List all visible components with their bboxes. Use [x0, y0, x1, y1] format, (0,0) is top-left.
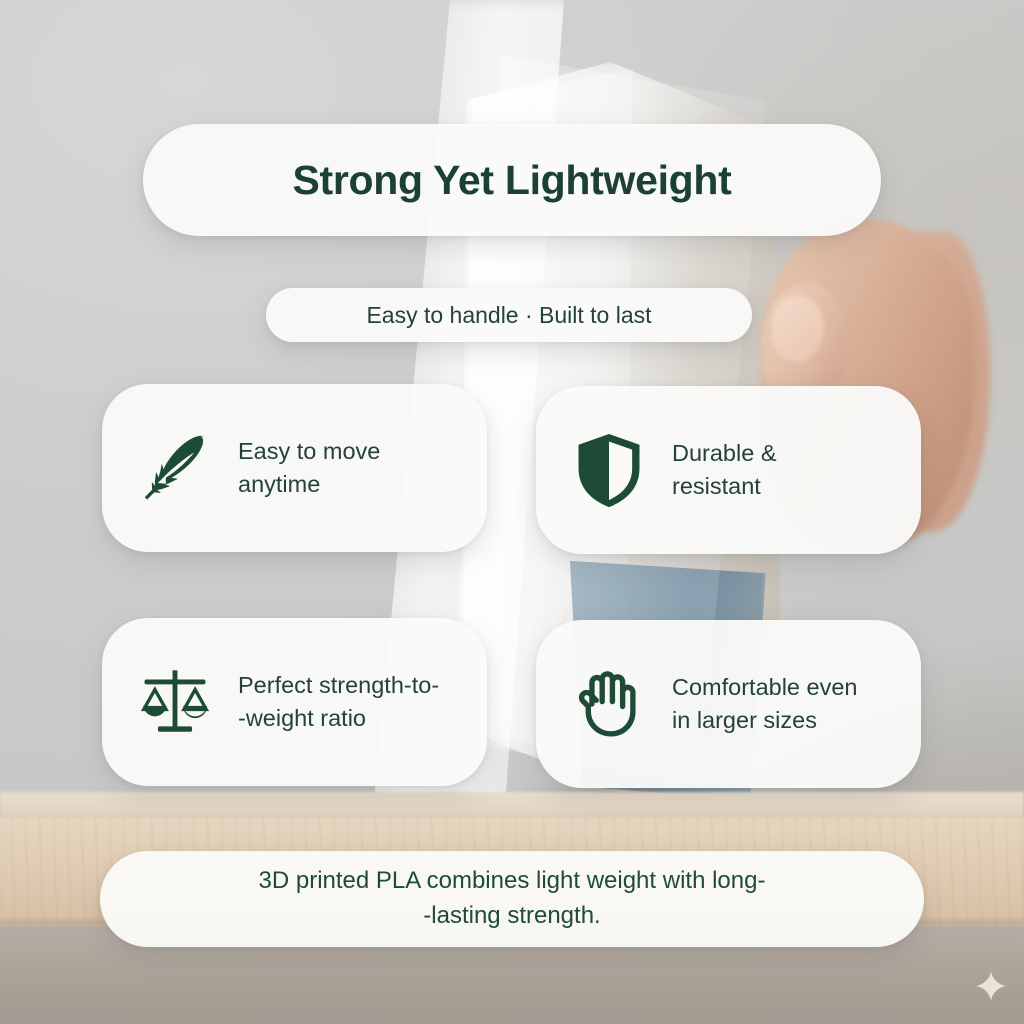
- page-title: Strong Yet Lightweight: [292, 157, 731, 204]
- feather-icon: [136, 427, 214, 509]
- feature-card-strength-to-weight[interactable]: Perfect strength-to- -weight ratio: [102, 618, 487, 786]
- balance-scale-icon: [136, 661, 214, 743]
- feature-card-durable[interactable]: Durable & resistant: [536, 386, 921, 554]
- title-pill: Strong Yet Lightweight: [143, 124, 881, 236]
- feature-card-label: Durable & resistant: [672, 437, 777, 504]
- infographic-canvas: Strong Yet Lightweight Easy to handle · …: [0, 0, 1024, 1024]
- feature-card-label: Perfect strength-to- -weight ratio: [238, 669, 439, 736]
- open-hand-icon: [570, 663, 648, 745]
- footer-text: 3D printed PLA combines light weight wit…: [199, 864, 826, 933]
- footer-pill: 3D printed PLA combines light weight wit…: [100, 851, 924, 947]
- feature-card-label: Easy to move anytime: [238, 435, 380, 502]
- page-subtitle: Easy to handle · Built to last: [366, 302, 651, 329]
- feature-card-easy-to-move[interactable]: Easy to move anytime: [102, 384, 487, 552]
- shield-icon: [570, 429, 648, 511]
- sparkle-icon: [976, 971, 1006, 1001]
- subtitle-pill: Easy to handle · Built to last: [266, 288, 752, 342]
- feature-card-comfortable[interactable]: Comfortable even in larger sizes: [536, 620, 921, 788]
- feature-card-label: Comfortable even in larger sizes: [672, 671, 858, 738]
